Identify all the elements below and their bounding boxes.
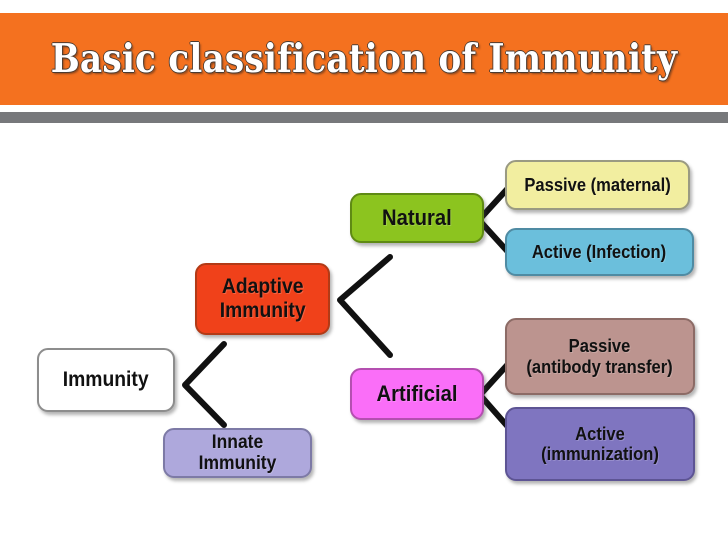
node-natural[interactable]: Natural [350,193,484,243]
slide: Basic classification of Immunity Immunit… [0,0,728,546]
node-active-immunization-label: Active (immunization) [541,424,659,464]
page-title: Basic classification of Immunity [51,40,678,79]
node-active-immunization[interactable]: Active (immunization) [505,407,695,481]
title-banner: Basic classification of Immunity [0,13,728,105]
node-immunity[interactable]: Immunity [37,348,175,412]
node-passive-maternal[interactable]: Passive (maternal) [505,160,690,210]
node-active-infection[interactable]: Active (Infection) [505,228,694,276]
header-divider [0,112,728,123]
node-passive-antibody-transfer-label: Passive (antibody transfer) [527,336,673,376]
node-passive-antibody-transfer-label-line2: (antibody transfer) [527,357,673,377]
node-innate-immunity-label: Innate Immunity [176,432,298,475]
edge-immunity-bracket [185,344,224,425]
node-passive-antibody-transfer-label-line1: Passive [569,336,631,356]
node-adaptive-immunity-label: Adaptive Immunity [220,275,306,322]
node-artificial-label: Artificial [377,382,458,407]
node-passive-antibody-transfer[interactable]: Passive (antibody transfer) [505,318,695,395]
node-innate-immunity[interactable]: Innate Immunity [163,428,312,478]
node-adaptive-immunity[interactable]: Adaptive Immunity [195,263,330,335]
node-active-infection-label: Active (Infection) [532,242,666,262]
node-active-immunization-label-line1: Active [575,424,625,444]
node-natural-label: Natural [382,206,452,231]
classification-diagram: Immunity Adaptive Immunity Innate Immuni… [0,123,728,546]
node-immunity-label: Immunity [63,368,149,392]
edge-adaptive-bracket [340,257,390,355]
node-artificial[interactable]: Artificial [350,368,484,420]
node-active-immunization-label-line2: (immunization) [541,444,659,464]
node-passive-maternal-label: Passive (maternal) [524,175,670,195]
node-adaptive-immunity-label-line2: Immunity [220,299,306,322]
node-adaptive-immunity-label-line1: Adaptive [222,275,304,298]
